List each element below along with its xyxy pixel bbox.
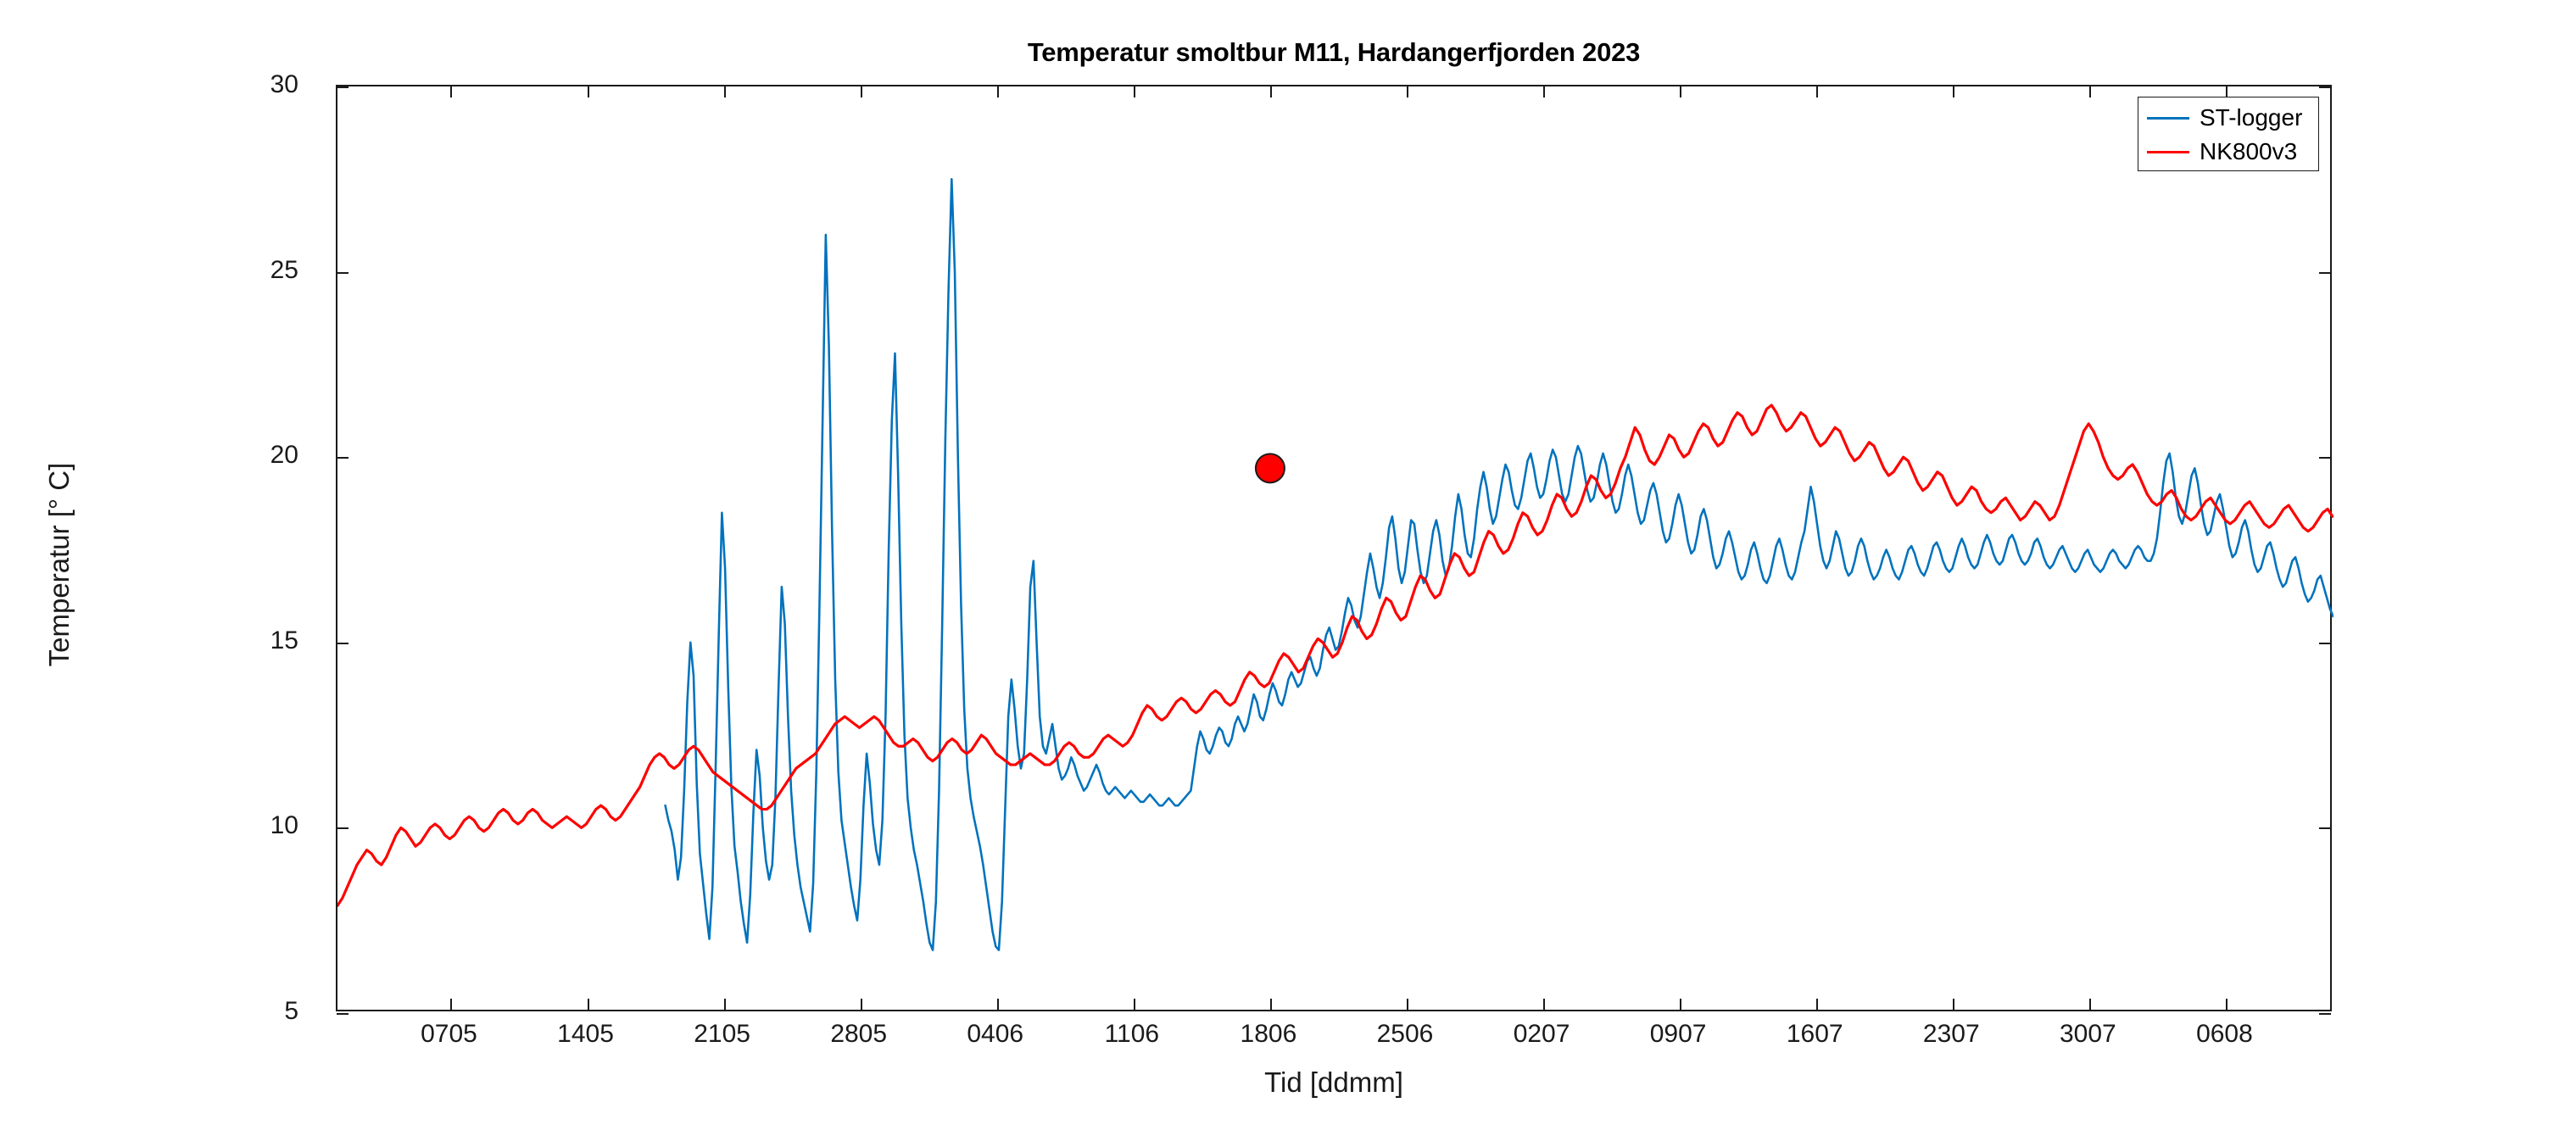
x-tick-label: 1607 [1787,1020,1843,1049]
x-tick-label: 0705 [421,1020,477,1049]
plot-area [336,85,2332,1011]
x-tick-mark [1953,86,1954,97]
x-tick-mark [450,999,452,1011]
legend-label-st-logger: ST-logger [2200,106,2302,130]
x-tick-label: 2105 [694,1020,750,1049]
y-tick-label: 20 [270,441,298,470]
x-tick-label: 1806 [1241,1020,1297,1049]
legend-label-nk800v3: NK800v3 [2200,140,2297,164]
y-tick-mark [2319,643,2331,644]
x-tick-mark [861,999,862,1011]
x-tick-mark [588,86,589,97]
y-tick-mark [337,457,348,459]
x-tick-mark [724,86,726,97]
y-axis-tick-labels: 51015202530 [0,85,322,1011]
legend: ST-logger NK800v3 [2138,97,2319,171]
x-tick-mark [724,999,726,1011]
x-axis-tick-labels: 0705140521052805040611061806250602070907… [336,1020,2332,1059]
x-tick-label: 2307 [1923,1020,1980,1049]
x-tick-mark [588,999,589,1011]
x-tick-mark [2226,999,2228,1011]
legend-color-swatch-st-logger [2147,117,2189,120]
x-tick-label: 0907 [1650,1020,1707,1049]
figure-canvas: Temperatur smoltbur M11, Hardangerfjorde… [0,0,2576,1136]
x-tick-mark [2226,86,2228,97]
y-tick-mark [2319,1013,2331,1015]
y-tick-mark [337,272,348,274]
x-tick-mark [1953,999,1954,1011]
x-tick-label: 2506 [1377,1020,1434,1049]
x-tick-mark [450,86,452,97]
x-tick-mark [1680,999,1681,1011]
legend-item-nk800v3[interactable]: NK800v3 [2138,135,2318,169]
series-line-nk800v3 [337,405,2333,905]
x-tick-mark [1680,86,1681,97]
y-tick-label: 15 [270,626,298,655]
y-tick-label: 25 [270,256,298,285]
y-tick-mark [337,86,348,88]
y-tick-label: 10 [270,811,298,840]
y-tick-mark [2319,457,2331,459]
plot-svg [337,86,2333,1013]
y-tick-mark [337,827,348,829]
x-tick-mark [2089,999,2091,1011]
x-tick-mark [2089,86,2091,97]
y-tick-mark [2319,272,2331,274]
highlight-point-marker [1256,454,1285,482]
x-axis-label: Tid [ddmm] [336,1066,2332,1099]
x-tick-label: 0207 [1514,1020,1570,1049]
y-tick-mark [337,643,348,644]
x-tick-mark [1543,999,1545,1011]
x-tick-label: 3007 [2060,1020,2116,1049]
legend-item-st-logger[interactable]: ST-logger [2138,101,2318,135]
x-tick-label: 1106 [1105,1020,1160,1049]
y-tick-mark [2319,827,2331,829]
page-title: Temperatur smoltbur M11, Hardangerfjorde… [336,37,2332,68]
x-tick-mark [1270,999,1272,1011]
x-tick-mark [1543,86,1545,97]
y-tick-label: 5 [284,997,298,1026]
x-tick-mark [1407,999,1408,1011]
y-tick-mark [337,1013,348,1015]
x-tick-label: 0406 [967,1020,1023,1049]
x-tick-mark [1270,86,1272,97]
y-tick-label: 30 [270,70,298,99]
series-line-st-logger [666,179,2333,949]
x-tick-mark [997,999,999,1011]
x-tick-mark [997,86,999,97]
x-tick-mark [1816,86,1818,97]
x-tick-mark [1134,999,1135,1011]
x-tick-mark [1816,999,1818,1011]
x-tick-label: 1405 [557,1020,614,1049]
x-tick-label: 0608 [2196,1020,2253,1049]
x-tick-mark [861,86,862,97]
x-tick-mark [1407,86,1408,97]
y-tick-mark [2319,86,2331,88]
x-tick-label: 2805 [830,1020,887,1049]
x-tick-mark [1134,86,1135,97]
legend-color-swatch-nk800v3 [2147,151,2189,153]
